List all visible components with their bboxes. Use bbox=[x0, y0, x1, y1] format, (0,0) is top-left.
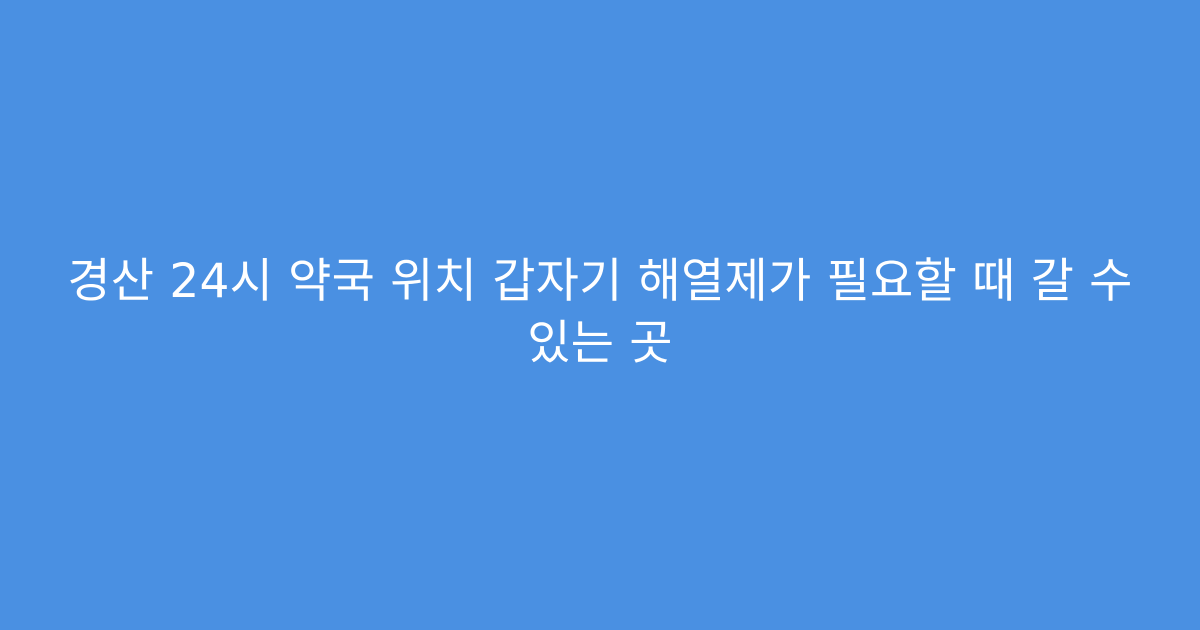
page-title: 경산 24시 약국 위치 갑자기 해열제가 필요할 때 갈 수 있는 곳 bbox=[60, 251, 1140, 375]
og-card-canvas: 경산 24시 약국 위치 갑자기 해열제가 필요할 때 갈 수 있는 곳 bbox=[0, 0, 1200, 630]
card-content: 경산 24시 약국 위치 갑자기 해열제가 필요할 때 갈 수 있는 곳 bbox=[50, 251, 1150, 375]
